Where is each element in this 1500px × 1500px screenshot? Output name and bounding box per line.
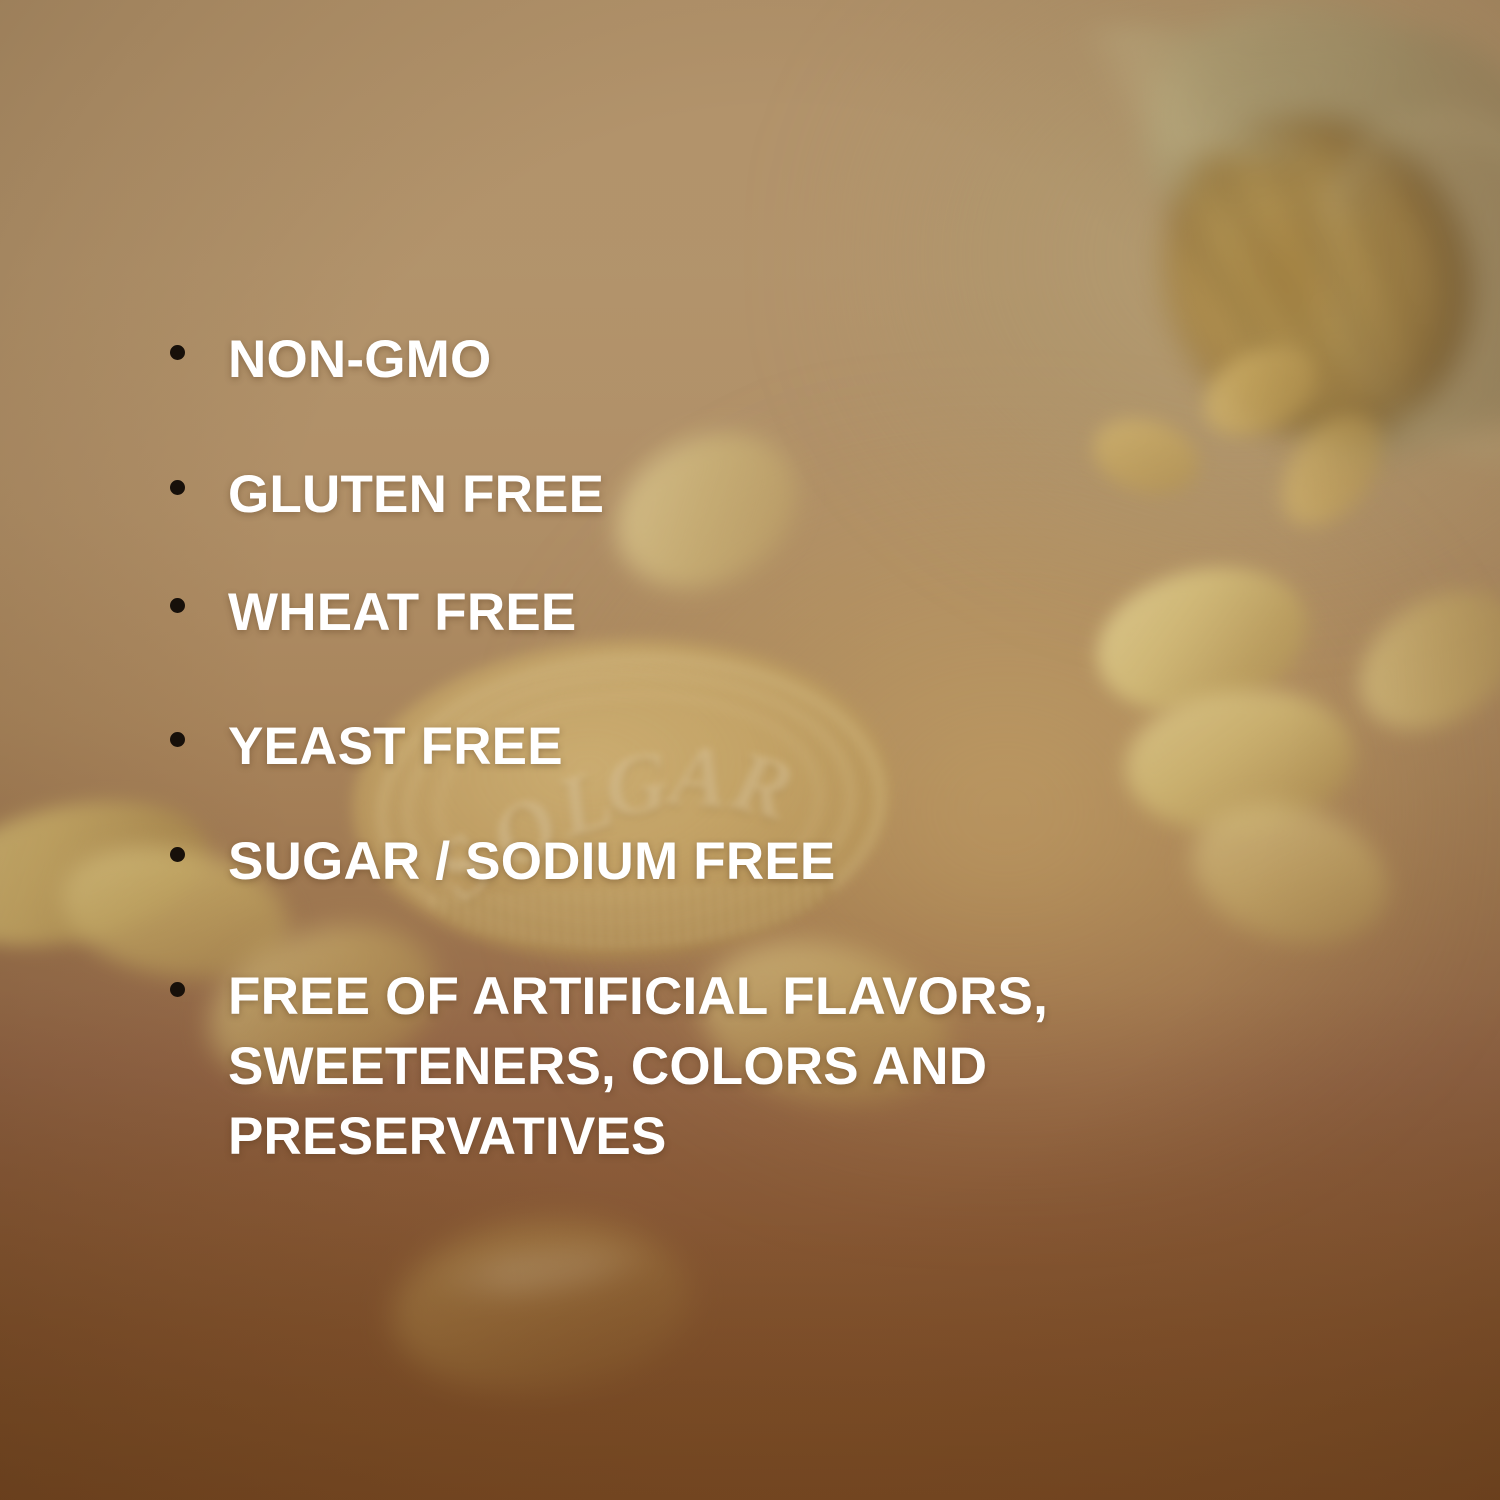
bullet-icon [170,598,185,613]
bullet-icon [170,345,185,360]
claim-label: WHEAT FREE [228,578,576,648]
emboss-letter: R [721,729,802,840]
claim-label: GLUTEN FREE [228,460,604,530]
claim-item-sugar-sodium-free[interactable]: SUGAR / SODIUM FREE [170,827,835,897]
claim-label: SUGAR / SODIUM FREE [228,827,835,897]
bullet-icon [170,732,185,747]
claim-item-non-gmo[interactable]: NON-GMO [170,325,491,395]
claim-label: FREE OF ARTIFICIAL FLAVORS, SWEETENERS, … [228,962,1048,1172]
claim-item-wheat-free[interactable]: WHEAT FREE [170,578,576,648]
emboss-letter: G [599,730,673,837]
claim-label: NON-GMO [228,325,491,395]
claim-item-free-of-artificial[interactable]: FREE OF ARTIFICIAL FLAVORS, SWEETENERS, … [170,962,1048,1172]
emboss-letter: A [667,724,731,828]
bullet-icon [170,847,185,862]
claim-item-gluten-free[interactable]: GLUTEN FREE [170,460,604,530]
bullet-icon [170,982,185,997]
product-claims-tile: S O L G A R NON-GMO GLUTEN FREE WHEAT FR… [0,0,1500,1500]
claim-label: YEAST FREE [228,712,563,782]
bullet-icon [170,480,185,495]
claim-item-yeast-free[interactable]: YEAST FREE [170,712,563,782]
